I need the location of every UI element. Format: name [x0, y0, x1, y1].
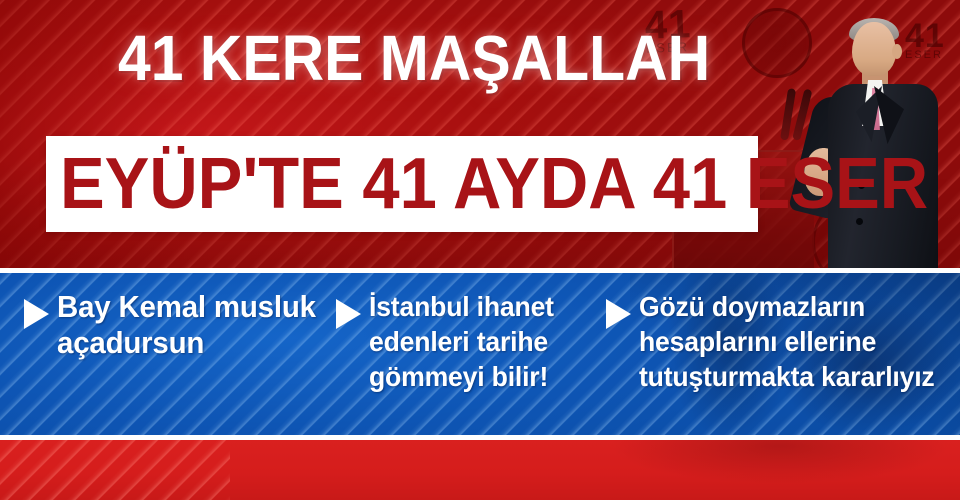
diagonal-stripe-pattern [0, 440, 230, 500]
play-triangle-icon [606, 299, 631, 329]
bullet-item-3: Gözü doymazların hesaplarını ellerine tu… [596, 289, 960, 394]
news-banner-graphic: 41 ESER 41 ESER [0, 0, 960, 500]
footer-red-strip [0, 440, 960, 500]
bullet-list: Bay Kemal musluk açadursun İstanbul ihan… [0, 273, 960, 435]
person-head [852, 22, 896, 76]
headline-secondary: EYÜP'TE 41 AYDA 41 ESER [60, 140, 928, 228]
footer-shadow-overlay [560, 440, 960, 500]
headline-white-band: EYÜP'TE 41 AYDA 41 ESER [46, 136, 758, 232]
headline-primary: 41 KERE MAŞALLAH [118, 26, 710, 90]
person-ear [892, 44, 902, 59]
bullet-item-2: İstanbul ihanet edenleri tarihe gömmeyi … [330, 289, 596, 394]
bullet-item-3-text: Gözü doymazların hesaplarını ellerine tu… [639, 289, 944, 394]
bullet-item-2-text: İstanbul ihanet edenleri tarihe gömmeyi … [369, 289, 585, 394]
bullet-item-1-text: Bay Kemal musluk açadursun [57, 289, 316, 361]
bullet-item-1: Bay Kemal musluk açadursun [0, 289, 330, 361]
play-triangle-icon [336, 299, 361, 329]
play-triangle-icon [24, 299, 49, 329]
hero-red-panel: 41 ESER 41 ESER [0, 0, 960, 268]
bullet-blue-panel: Bay Kemal musluk açadursun İstanbul ihan… [0, 273, 960, 435]
